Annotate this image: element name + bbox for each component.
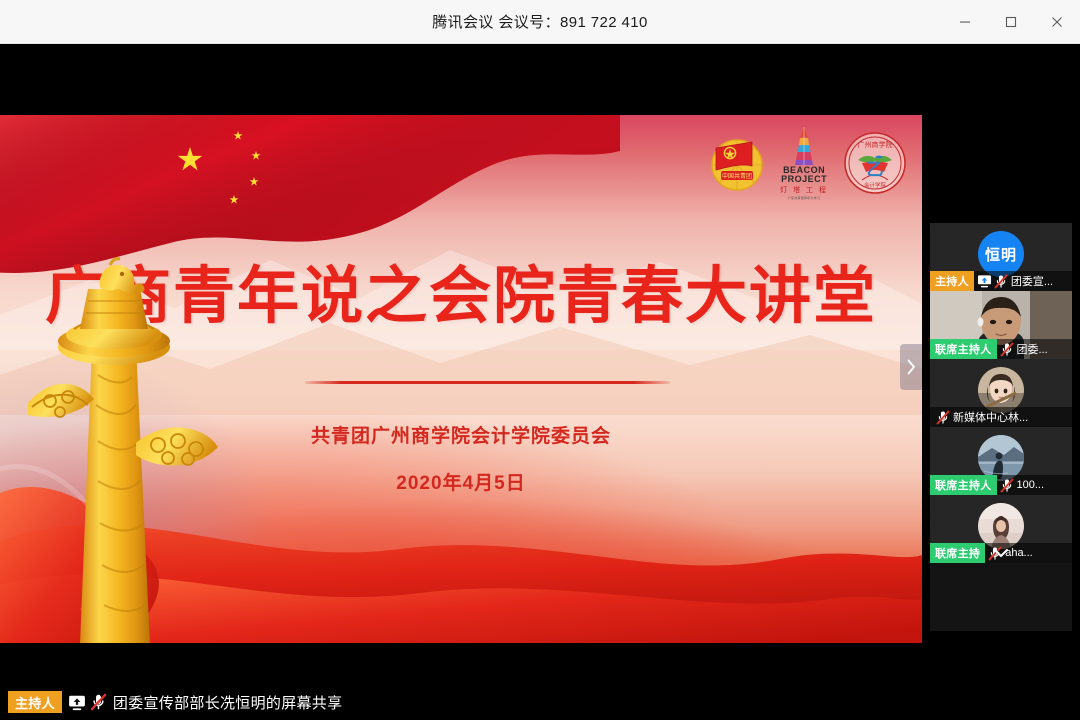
- participant-infobar-2: 新媒体中心林...: [930, 407, 1072, 427]
- participant-tile-0[interactable]: 恒明 主持人: [930, 223, 1072, 291]
- screen-share-icon: [68, 694, 86, 711]
- maximize-icon: [1005, 16, 1017, 28]
- svg-text:广州商学院: 广州商学院: [858, 140, 893, 149]
- participant-infobar-1: 联席主持人 团委...: [930, 339, 1072, 359]
- minimize-button[interactable]: [942, 0, 988, 44]
- participant-tile-2[interactable]: 新媒体中心林...: [930, 359, 1072, 427]
- meeting-stage: 中国共青团 BEACON PROJECT: [0, 44, 1080, 720]
- presentation-slide: 中国共青团 BEACON PROJECT: [0, 115, 922, 643]
- participant-panel[interactable]: 恒明 主持人: [930, 223, 1072, 631]
- sharebar-role-badge: 主持人: [8, 691, 62, 713]
- next-slide-button[interactable]: [900, 344, 922, 390]
- close-icon: [1051, 16, 1063, 28]
- mic-muted-icon: [936, 410, 950, 425]
- maximize-button[interactable]: [988, 0, 1034, 44]
- close-button[interactable]: [1034, 0, 1080, 44]
- svg-text:乙: 乙: [867, 160, 884, 180]
- svg-text:中国共青团: 中国共青团: [722, 172, 752, 180]
- window-controls: [942, 0, 1080, 44]
- participant-icons-2: [930, 410, 950, 425]
- participant-icons-1: [997, 342, 1014, 357]
- participant-tile-4[interactable]: 联席主持 aha...: [930, 495, 1072, 563]
- participant-infobar-3: 联席主持人 100...: [930, 475, 1072, 495]
- role-badge-cohost: 联席主持人: [930, 339, 997, 359]
- role-badge-cohost: 联席主持人: [930, 475, 997, 495]
- participant-icons-0: [974, 274, 1008, 289]
- sharebar-text: 团委宣传部部长冼恒明的屏幕共享: [113, 692, 343, 713]
- beacon-logo-line2: PROJECT: [781, 175, 827, 184]
- participant-name-3: 100...: [1014, 479, 1045, 491]
- svg-text:会计学院: 会计学院: [864, 181, 887, 189]
- role-badge-host: 主持人: [930, 271, 974, 291]
- chevron-right-icon: [906, 359, 916, 375]
- accounting-school-seal: 广州商学院 乙 会计学院: [842, 124, 908, 202]
- mic-muted-icon: [1000, 342, 1014, 357]
- communist-youth-league-emblem: 中国共青团: [708, 124, 766, 202]
- meeting-window: 腾讯会议 会议号：891 722 410: [0, 0, 1080, 720]
- participant-name-2: 新媒体中心林...: [950, 409, 1028, 425]
- participant-tile-3[interactable]: 联席主持人 100...: [930, 427, 1072, 495]
- role-badge-cohost: 联席主持: [930, 543, 985, 563]
- beacon-logo-sub: 广东共青团青年大学习: [788, 196, 820, 201]
- scroll-down-button[interactable]: [992, 544, 1010, 562]
- minimize-icon: [959, 16, 971, 28]
- beacon-project-logo: BEACON PROJECT 灯 塔 工 程 广东共青团青年大学习: [780, 124, 828, 202]
- window-title: 腾讯会议 会议号：891 722 410: [432, 11, 648, 32]
- participant-infobar-0: 主持人 团委宣...: [930, 271, 1072, 291]
- huabiao-column: [18, 255, 228, 643]
- slide-logos: 中国共青团 BEACON PROJECT: [708, 119, 908, 207]
- participant-name-1: 团委...: [1014, 341, 1048, 357]
- shared-screen[interactable]: 中国共青团 BEACON PROJECT: [0, 115, 922, 643]
- participant-name-0: 团委宣...: [1008, 273, 1053, 289]
- mic-muted-icon: [1000, 478, 1014, 493]
- title-bar: 腾讯会议 会议号：891 722 410: [0, 0, 1080, 44]
- sharebar-icons: [68, 693, 107, 711]
- chevron-down-icon: [993, 547, 1009, 559]
- screen-share-statusbar: 主持人 团委宣传部部长冼恒明的屏幕共享: [0, 684, 1080, 720]
- participant-tile-1[interactable]: 联席主持人 团委...: [930, 291, 1072, 359]
- mic-muted-icon: [994, 274, 1008, 289]
- participant-icons-3: [997, 478, 1014, 493]
- beacon-logo-cn: 灯 塔 工 程: [780, 185, 828, 195]
- mic-muted-icon: [90, 693, 107, 711]
- screen-share-icon: [977, 274, 992, 288]
